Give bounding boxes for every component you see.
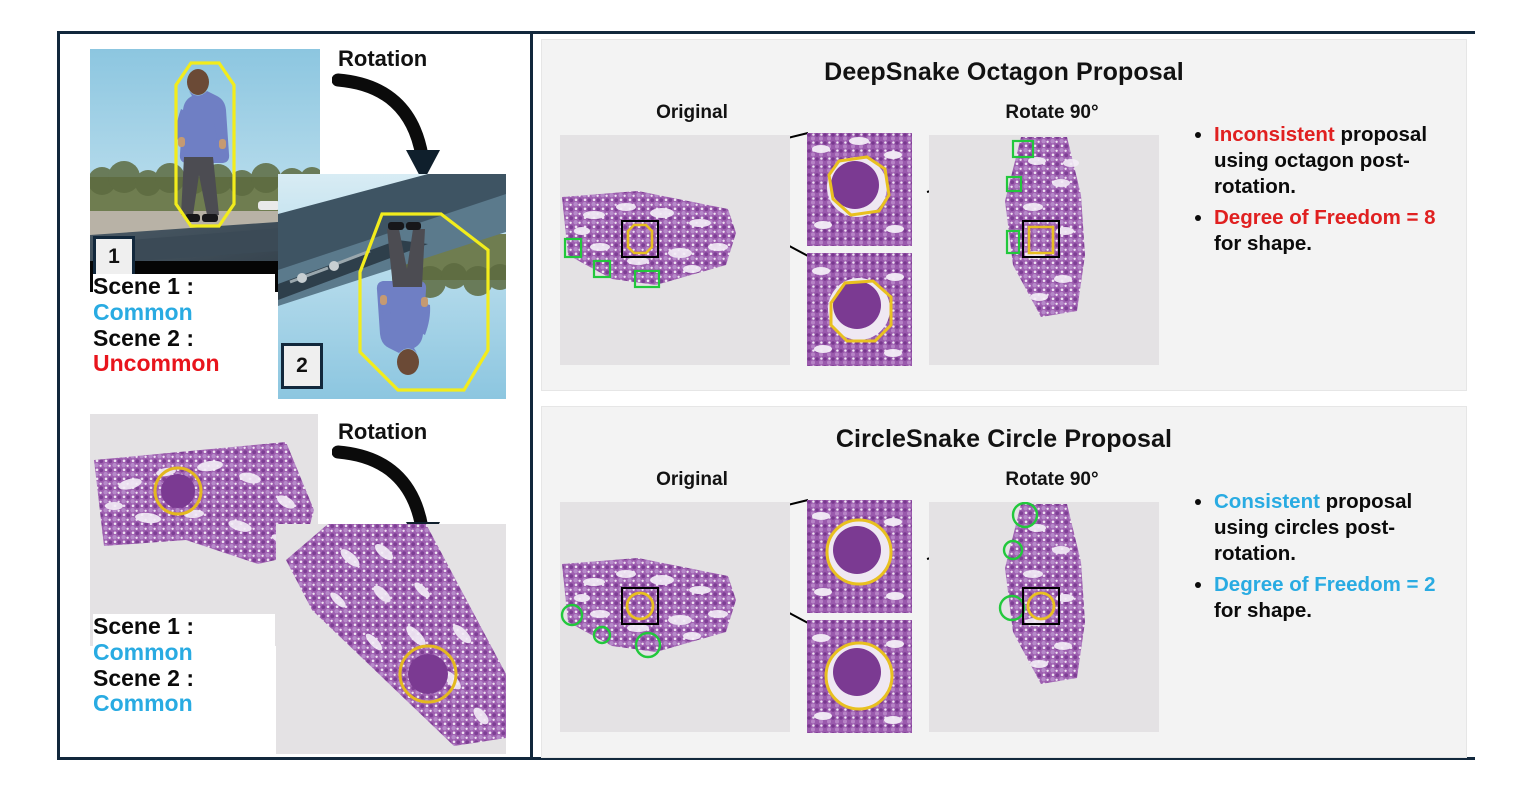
deepsnake-octagon-panel: DeepSnake Octagon Proposal Original Rota… [541,39,1467,391]
circlesnake-rotated-image [929,502,1159,732]
deepsnake-bullet-2-strong: Degree of Freedom = 8 [1214,206,1436,229]
scene2-value-top: Uncommon [93,351,275,377]
deepsnake-rotated-image [929,135,1159,365]
circlesnake-bullets: Consistent proposal using circles post-r… [1192,489,1462,628]
circlesnake-bullet-1: Consistent proposal using circles post-r… [1214,489,1462,568]
scene-legend-bottom: Scene 1 : Common Scene 2 : Common [93,614,275,717]
deepsnake-bullet-2-rest: for shape. [1214,232,1312,255]
circlesnake-zoom-original [807,500,912,613]
scene-badge-1-label: 1 [108,245,120,269]
circlesnake-bullet-2: Degree of Freedom = 2 for shape. [1214,572,1462,624]
figure-frame: 1 Rotation [57,31,1475,760]
scene-legend-top: Scene 1 : Common Scene 2 : Uncommon [93,274,275,377]
scene-badge-2: 2 [281,343,323,389]
deepsnake-bullets: Inconsistent proposal using octagon post… [1192,122,1462,261]
deepsnake-zoom-rotated [807,253,912,366]
circlesnake-circle-panel: CircleSnake Circle Proposal Original Rot… [541,406,1467,758]
rotation-label-top: Rotation [338,46,427,72]
scene1-label-bottom: Scene 1 : [93,614,275,640]
rotation-label-bottom: Rotation [338,419,427,445]
scene1-value-bottom: Common [93,640,275,666]
circlesnake-bullet-1-strong: Consistent [1214,490,1320,513]
deepsnake-original-image [560,135,790,365]
scene-badge-1: 1 [93,236,135,278]
circlesnake-original-image [560,502,790,732]
scene2-histology-rotated [276,524,506,754]
circlesnake-zoom-rotated [807,620,912,733]
scene1-value-top: Common [93,300,275,326]
deepsnake-bullet-1-strong: Inconsistent [1214,123,1335,146]
left-column: 1 Rotation [60,34,530,757]
right-column: DeepSnake Octagon Proposal Original Rota… [533,34,1475,757]
deepsnake-zoom-original [807,133,912,246]
scene2-label-top: Scene 2 : [93,326,275,352]
scene2-value-bottom: Common [93,691,275,717]
circlesnake-bullet-2-strong: Degree of Freedom = 2 [1214,573,1436,596]
scene-badge-2-label: 2 [296,354,308,378]
circlesnake-bullet-2-rest: for shape. [1214,599,1312,622]
deepsnake-bullet-2: Degree of Freedom = 8 for shape. [1214,205,1462,257]
scene2-label-bottom: Scene 2 : [93,666,275,692]
deepsnake-bullet-1: Inconsistent proposal using octagon post… [1214,122,1462,201]
scene1-label-top: Scene 1 : [93,274,275,300]
